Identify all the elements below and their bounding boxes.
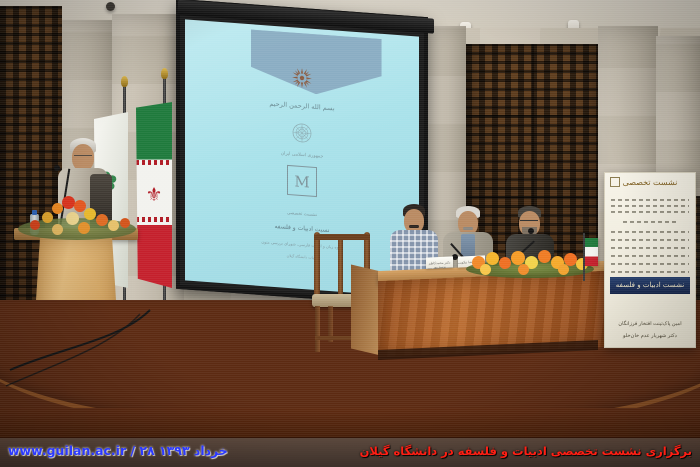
desk-iran-flag [585, 238, 598, 266]
ceiling-spotlight [106, 2, 115, 11]
floor-cables [0, 300, 380, 430]
panelist-left-moustache-icon [409, 225, 419, 228]
banner-title: نشست تخصصی [605, 178, 695, 187]
panelist-center-moustache-icon [463, 227, 473, 230]
standing-banner: نشست تخصصی نشست ادبیات و فلسفه امین پاک‌… [604, 172, 696, 348]
caption-bar: برگزاری نشست تخصصی ادبیات و فلسفه در دان… [0, 437, 700, 467]
name-card-text: دکتر محمدکاظم یوسف‌پور [426, 260, 453, 269]
microphone-head-icon [528, 228, 534, 234]
name-card: دکتر محمدکاظم یوسف‌پور [426, 256, 453, 268]
caption-url-date: www.guilan.ac.ir / ۲۸ خرداد ۱۳۹۳ [8, 443, 228, 458]
conference-photo: بسم الله الرحمن الرحیم جمهوری اسلامی ایر… [0, 0, 700, 467]
university-logo-icon: M [287, 165, 317, 197]
microphone-head-icon [54, 165, 60, 171]
slide-header-band [251, 29, 382, 99]
banner-footer-line-2: دکتر شهریار عدم خان‌خلو [605, 333, 695, 339]
podium-flower-arrangement [18, 196, 136, 240]
banner-footer-line-1: امین پاک‌تینت افتخار فرزانگان [605, 321, 695, 327]
university-logo-glyph: M [294, 172, 309, 191]
star-rosette-icon [291, 66, 313, 95]
banner-highlight: نشست ادبیات و فلسفه [610, 277, 690, 294]
caption-headline: برگزاری نشست تخصصی ادبیات و فلسفه در دان… [360, 444, 692, 458]
slide-line-1: بسم الله الرحمن الرحیم [185, 94, 419, 119]
desk-flag-cloth [585, 238, 598, 266]
banner-highlight-text: نشست ادبیات و فلسفه [610, 281, 690, 289]
circular-medallion-icon [292, 123, 312, 149]
table-flower-arrangement [466, 248, 594, 278]
projected-slide: بسم الله الرحمن الرحیم جمهوری اسلامی ایر… [185, 19, 419, 297]
iran-flag-emblem-icon: ⚜ [145, 184, 162, 206]
speaker-glasses-icon [74, 155, 92, 158]
desk-flag-pole [583, 233, 585, 281]
panelist-right-glasses-icon [520, 220, 538, 223]
